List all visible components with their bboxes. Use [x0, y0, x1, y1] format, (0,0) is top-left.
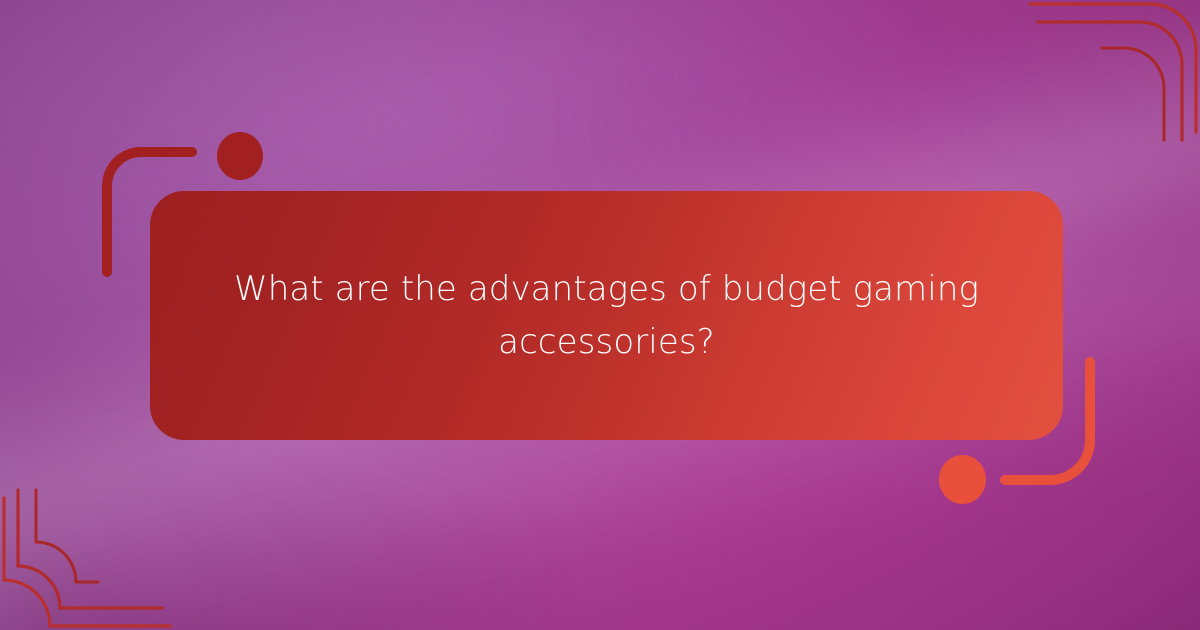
question-card: What are the advantages of budget gaming… [150, 191, 1063, 440]
top-left-accent-dot [217, 132, 263, 180]
bottom-right-accent-dot [939, 455, 986, 504]
question-text: What are the advantages of budget gaming… [226, 263, 987, 368]
banner-canvas: What are the advantages of budget gaming… [0, 0, 1200, 630]
